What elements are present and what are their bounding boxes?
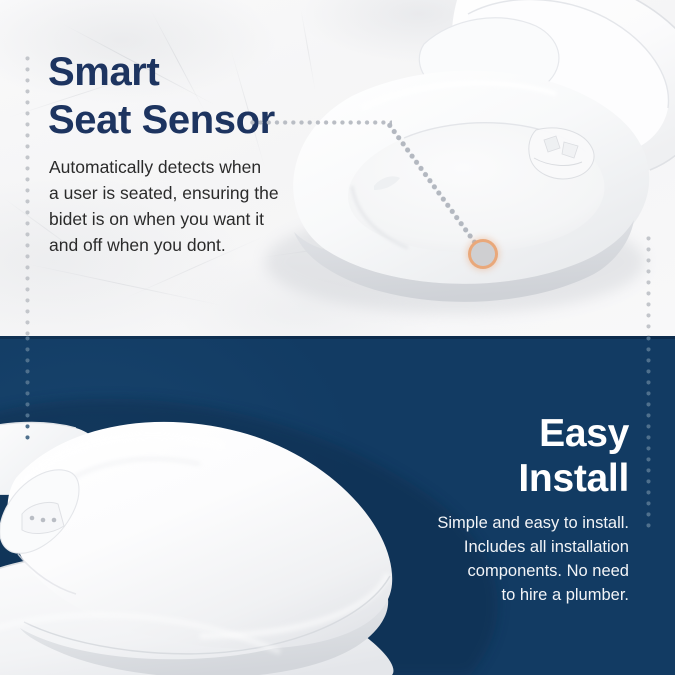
top-section-panel: Smart Seat Sensor Automatically detects … bbox=[0, 0, 675, 336]
vertical-dotted-guide-left bbox=[25, 336, 30, 444]
vertical-dotted-guide-right bbox=[646, 236, 651, 336]
description-easy-install: Simple and easy to install. Includes all… bbox=[369, 511, 629, 607]
page-title-easy-install: Easy Install bbox=[518, 411, 629, 501]
horizontal-dotted-leader bbox=[250, 120, 392, 125]
infographic-canvas: Smart Seat Sensor Automatically detects … bbox=[0, 0, 675, 675]
vertical-dotted-guide-right bbox=[646, 336, 651, 532]
vertical-dotted-guide-left bbox=[25, 56, 30, 336]
description-smart-seat-sensor: Automatically detects when a user is sea… bbox=[49, 154, 289, 258]
seat-sensor-target-marker bbox=[471, 242, 495, 266]
bottom-section-panel bbox=[0, 336, 675, 675]
page-title-smart-seat-sensor: Smart Seat Sensor bbox=[48, 48, 275, 144]
bottom-text-wrapper bbox=[0, 336, 675, 675]
